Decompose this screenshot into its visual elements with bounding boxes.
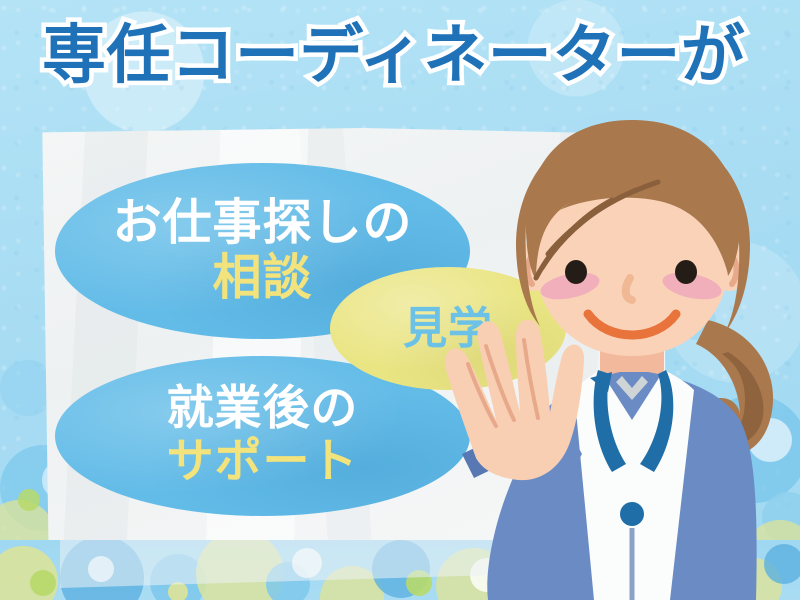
callout-consult-line1: お仕事探しの [113, 197, 413, 250]
eye-right [675, 260, 697, 284]
bubble [168, 582, 188, 600]
poster-canvas: お仕事探しの 相談 就業後の サポート 見学 [0, 0, 800, 600]
callout-support-line2: サポート [167, 437, 359, 488]
bubble [30, 570, 56, 596]
coordinator-illustration [440, 120, 800, 600]
page-title: 専任コーディネーターが [42, 24, 745, 88]
callout-support-line1: 就業後の [167, 384, 359, 435]
callout-consult-line2: 相談 [213, 252, 313, 305]
eye-left [565, 260, 587, 284]
jacket-button [620, 502, 644, 526]
bubble [18, 489, 40, 511]
